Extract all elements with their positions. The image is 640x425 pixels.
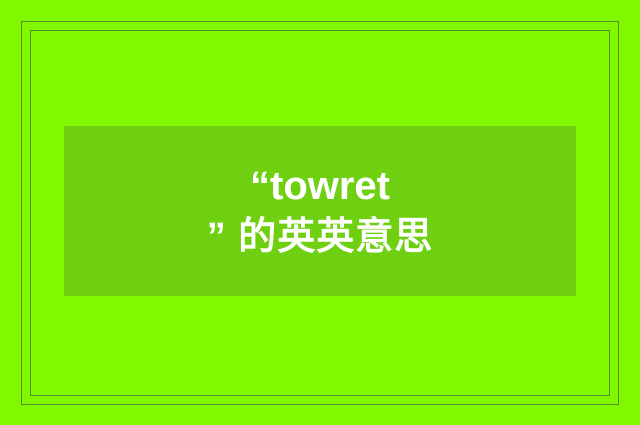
headline-line-2: ” 的英英意思 — [207, 218, 434, 256]
headline-panel: “towret ” 的英英意思 — [64, 126, 576, 296]
poster-canvas: “towret ” 的英英意思 — [0, 0, 640, 425]
headline-line-1: “towret — [250, 166, 390, 206]
